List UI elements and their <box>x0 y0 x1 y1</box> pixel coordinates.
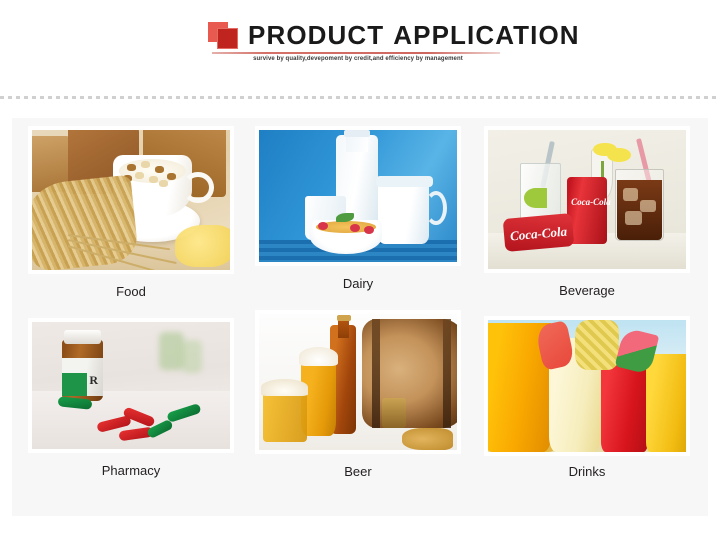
product-image-beer[interactable] <box>255 310 461 454</box>
dairy-artwork <box>259 130 457 262</box>
product-label-pharmacy: Pharmacy <box>28 463 234 479</box>
food-artwork <box>32 130 230 270</box>
product-image-food[interactable] <box>28 126 234 274</box>
product-label-dairy: Dairy <box>255 276 461 292</box>
product-label-beer: Beer <box>255 464 461 480</box>
two-red-squares-logo-icon <box>208 20 242 50</box>
pharmacy-artwork: R <box>32 322 230 449</box>
product-grid-panel: Food Dairy <box>12 118 708 516</box>
page-title: PRODUCTAPPLICATION <box>248 20 580 50</box>
slide-header: PRODUCTAPPLICATION survive by quality,de… <box>0 0 720 95</box>
product-image-drinks[interactable] <box>484 316 690 456</box>
title-word-application: APPLICATION <box>393 20 579 50</box>
title-block: PRODUCTAPPLICATION survive by quality,de… <box>208 18 508 52</box>
title-subtitle: survive by quality,devepoment by credit,… <box>208 56 508 62</box>
product-label-drinks: Drinks <box>484 464 690 480</box>
beer-artwork <box>259 314 457 450</box>
logo-square-front <box>217 28 238 49</box>
dotted-divider <box>0 96 720 99</box>
product-label-beverage: Beverage <box>484 283 690 299</box>
title-word-product: PRODUCT <box>248 20 384 50</box>
beverage-artwork: Coca-Cola Coca-Cola <box>488 130 686 269</box>
product-label-food: Food <box>28 284 234 300</box>
drinks-artwork <box>488 320 686 452</box>
product-image-dairy[interactable] <box>255 126 461 266</box>
product-image-beverage[interactable]: Coca-Cola Coca-Cola <box>484 126 690 273</box>
slide-root: PRODUCTAPPLICATION survive by quality,de… <box>0 0 720 542</box>
title-underline-rule <box>212 52 500 54</box>
title-row: PRODUCTAPPLICATION <box>208 18 508 52</box>
product-image-pharmacy[interactable]: R <box>28 318 234 453</box>
